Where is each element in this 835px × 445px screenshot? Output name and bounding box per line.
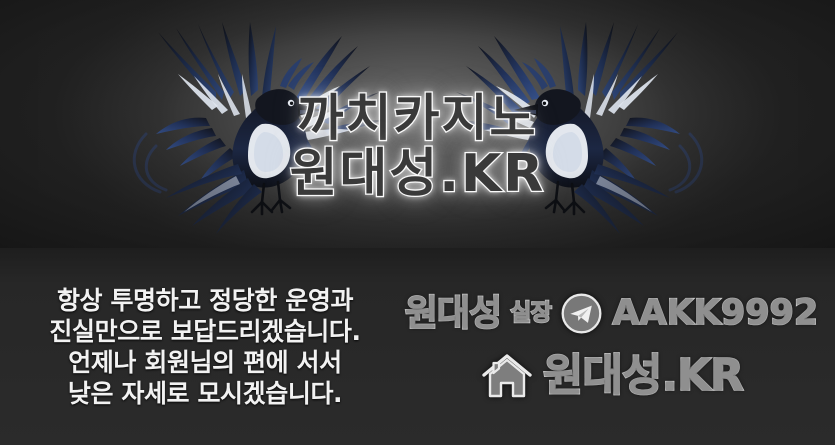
site-url[interactable]: 원대성.KR <box>543 354 743 398</box>
telegram-icon[interactable] <box>560 292 603 335</box>
contact-block: 원대성 실장 AAKK9992 <box>404 292 835 401</box>
magpie-right-illustration <box>432 6 724 242</box>
home-icon[interactable] <box>480 351 534 401</box>
slogan-line-3: 언제나 회원님의 편에 서서 <box>6 347 404 378</box>
slogan-line-4: 낮은 자세로 모시겠습니다. <box>6 378 404 409</box>
casino-promo-banner: 까치카지노 원대성.KR 항상 투명하고 정당한 운영과 진실만으로 보답드리겠… <box>0 0 835 445</box>
info-panel: 항상 투명하고 정당한 운영과 진실만으로 보답드리겠습니다. 언제나 회원님의… <box>0 248 835 445</box>
magpie-left-illustration <box>112 6 404 242</box>
website-row[interactable]: 원대성.KR <box>480 351 743 401</box>
slogan-line-1: 항상 투명하고 정당한 운영과 <box>6 285 404 316</box>
telegram-handle[interactable]: AAKK9992 <box>612 296 818 331</box>
slogan-block: 항상 투명하고 정당한 운영과 진실만으로 보답드리겠습니다. 언제나 회원님의… <box>0 285 404 409</box>
manager-title: 실장 <box>510 302 551 325</box>
manager-name: 원대성 <box>405 296 501 332</box>
hero-section: 까치카지노 원대성.KR <box>0 0 835 248</box>
telegram-contact-row[interactable]: 원대성 실장 AAKK9992 <box>405 292 819 335</box>
slogan-line-2: 진실만으로 보답드리겠습니다. <box>6 316 404 347</box>
